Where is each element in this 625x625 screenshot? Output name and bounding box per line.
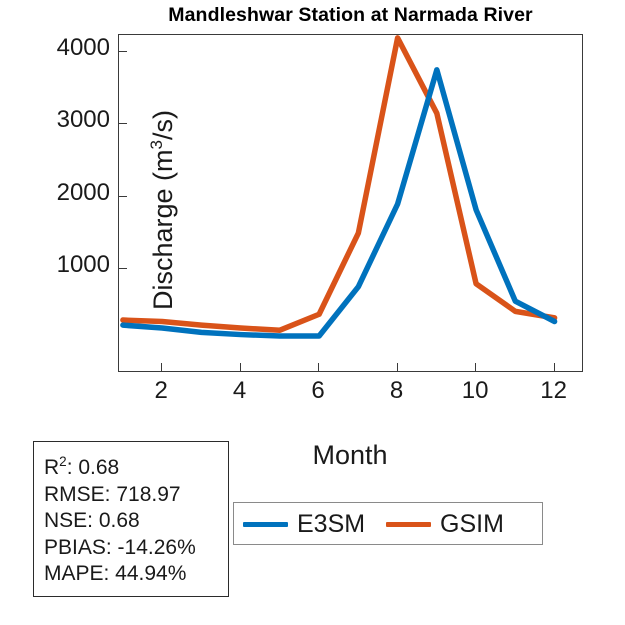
x-tick-12 bbox=[554, 363, 555, 372]
y-tick-2000 bbox=[118, 196, 127, 197]
x-tick-6 bbox=[318, 363, 319, 372]
statistics-box: R2: 0.68 RMSE: 718.97 NSE: 0.68 PBIAS: -… bbox=[33, 441, 229, 597]
legend: E3SM GSIM bbox=[233, 502, 543, 545]
y-tick-label-text: 1000 bbox=[57, 251, 110, 279]
stat-r2: R2: 0.68 bbox=[44, 449, 228, 482]
y-tick-label-text: 2000 bbox=[57, 179, 110, 207]
stat-r2-exponent: 2 bbox=[59, 454, 67, 469]
x-tick-label-4: 4 bbox=[210, 377, 270, 405]
stat-nse: NSE: 0.68 bbox=[44, 508, 228, 535]
y-tick-4000 bbox=[118, 51, 127, 52]
x-axis-label: Month bbox=[250, 440, 450, 471]
line-gsim bbox=[123, 38, 555, 330]
legend-item-gsim[interactable]: GSIM bbox=[386, 503, 504, 546]
stat-mape: MAPE: 44.94% bbox=[44, 561, 228, 588]
y-tick-label-text: 4000 bbox=[57, 34, 110, 62]
x-tick-label-12: 12 bbox=[524, 377, 584, 405]
legend-label-gsim: GSIM bbox=[440, 510, 504, 539]
x-tick-label-6: 6 bbox=[288, 377, 348, 405]
stat-r2-value: : 0.68 bbox=[67, 456, 120, 479]
chart-title: Mandleshwar Station at Narmada River bbox=[118, 4, 583, 27]
y-tick-3000 bbox=[118, 123, 127, 124]
x-tick-8 bbox=[397, 363, 398, 372]
x-tick-4 bbox=[240, 363, 241, 372]
series-canvas bbox=[119, 35, 584, 373]
legend-label-e3sm: E3SM bbox=[297, 510, 365, 539]
x-tick-label-10: 10 bbox=[445, 377, 505, 405]
x-tick-label-8: 8 bbox=[367, 377, 427, 405]
y-tick-label-text: 3000 bbox=[57, 106, 110, 134]
legend-swatch-e3sm bbox=[243, 522, 288, 528]
plot-area bbox=[118, 34, 583, 372]
legend-item-e3sm[interactable]: E3SM bbox=[243, 503, 365, 546]
stat-rmse: RMSE: 718.97 bbox=[44, 482, 228, 509]
stat-pbias: PBIAS: -14.26% bbox=[44, 535, 228, 562]
stat-r2-symbol: R bbox=[44, 456, 59, 479]
x-tick-label-2: 2 bbox=[131, 377, 191, 405]
x-tick-10 bbox=[475, 363, 476, 372]
x-tick-2 bbox=[161, 363, 162, 372]
y-tick-1000 bbox=[118, 268, 127, 269]
chart-figure: Mandleshwar Station at Narmada River 100… bbox=[0, 0, 625, 625]
legend-swatch-gsim bbox=[386, 522, 431, 528]
